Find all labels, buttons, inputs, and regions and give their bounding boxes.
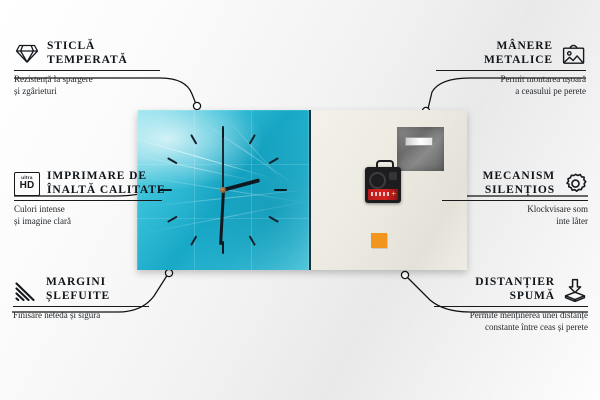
callout-rule: [436, 70, 586, 71]
callout-hd-print: ultra HD IMPRIMARE DE ÎNALTĂ CALITATE Cu…: [14, 170, 166, 227]
callout-title: IMPRIMARE DE ÎNALTĂ CALITATE: [47, 170, 165, 197]
anchor-dot-foam-spacer: [401, 271, 408, 278]
diamond-icon: [14, 42, 40, 66]
callout-tempered-glass: STICLĂ TEMPERATĂ Rezistență la spargere …: [14, 40, 164, 97]
callout-title-row: MÂNERE METALICE: [436, 40, 586, 67]
callout-rule: [442, 200, 588, 201]
mechanism-knob: [389, 172, 397, 180]
hanger-slot: [405, 137, 433, 146]
callout-title-row: DISTANȚIER SPUMĂ: [434, 276, 588, 303]
callout-subtitle: Permite menținerea unei distanțe constan…: [434, 310, 588, 333]
clock-dial: [157, 124, 289, 256]
clock-hand-second: [222, 138, 224, 190]
callout-subtitle: Culori intense și imagine clară: [14, 204, 166, 227]
battery: +: [368, 189, 398, 200]
gear-icon: [562, 172, 588, 196]
product-photo: +: [137, 110, 467, 270]
callout-rule: [434, 306, 588, 307]
metal-hanger: [397, 127, 444, 171]
callout-subtitle: Finisare netedă și sigură: [13, 310, 153, 322]
callout-subtitle: Klockvisare som inte låter: [442, 204, 588, 227]
callout-subtitle: Permit montarea ușoară a ceasului pe per…: [436, 74, 586, 97]
callout-metal-handles: MÂNERE METALICE Permit montarea ușoară a…: [436, 40, 586, 97]
polished-edge-icon: [13, 278, 39, 302]
callout-polished-edges: MARGINI ȘLEFUITE Finisare netedă și sigu…: [13, 276, 153, 322]
callout-title: MECANISM SILENȚIOS: [483, 170, 555, 197]
anchor-dot-polished-edges: [165, 269, 172, 276]
mechanism-loop: [376, 160, 394, 171]
callout-title-row: ultra HD IMPRIMARE DE ÎNALTĂ CALITATE: [14, 170, 166, 197]
mechanism-dial: [369, 172, 386, 189]
anchor-dot-tempered-glass: [193, 102, 200, 109]
callout-silent-mechanism: MECANISM SILENȚIOS Klockvisare som inte …: [442, 170, 588, 227]
callout-rule: [13, 306, 149, 307]
callout-title-row: MARGINI ȘLEFUITE: [13, 276, 153, 303]
clock-mechanism: +: [365, 167, 401, 203]
foam-spacer: [371, 233, 387, 248]
callout-foam-spacer: DISTANȚIER SPUMĂ Permite menținerea unei…: [434, 276, 588, 333]
callout-subtitle: Rezistență la spargere și zgârieturi: [14, 74, 164, 97]
spacer-down-arrow-icon: [562, 278, 588, 302]
callout-rule: [14, 70, 160, 71]
callout-rule: [14, 200, 162, 201]
callout-title: DISTANȚIER SPUMĂ: [475, 276, 555, 303]
callout-title: MÂNERE METALICE: [484, 40, 553, 67]
ultra-hd-icon: ultra HD: [14, 172, 40, 196]
infographic-stage: + STICLĂ TEMPERATĂ Reziste: [0, 0, 600, 400]
wall-frame-hook-icon: [560, 42, 586, 66]
callout-title: MARGINI ȘLEFUITE: [46, 276, 110, 303]
callout-title-row: STICLĂ TEMPERATĂ: [14, 40, 164, 67]
battery-plus: +: [391, 190, 396, 198]
callout-title-row: MECANISM SILENȚIOS: [442, 170, 588, 197]
clock-center-pin: [220, 187, 226, 193]
battery-label: [371, 192, 389, 196]
callout-title: STICLĂ TEMPERATĂ: [47, 40, 128, 67]
